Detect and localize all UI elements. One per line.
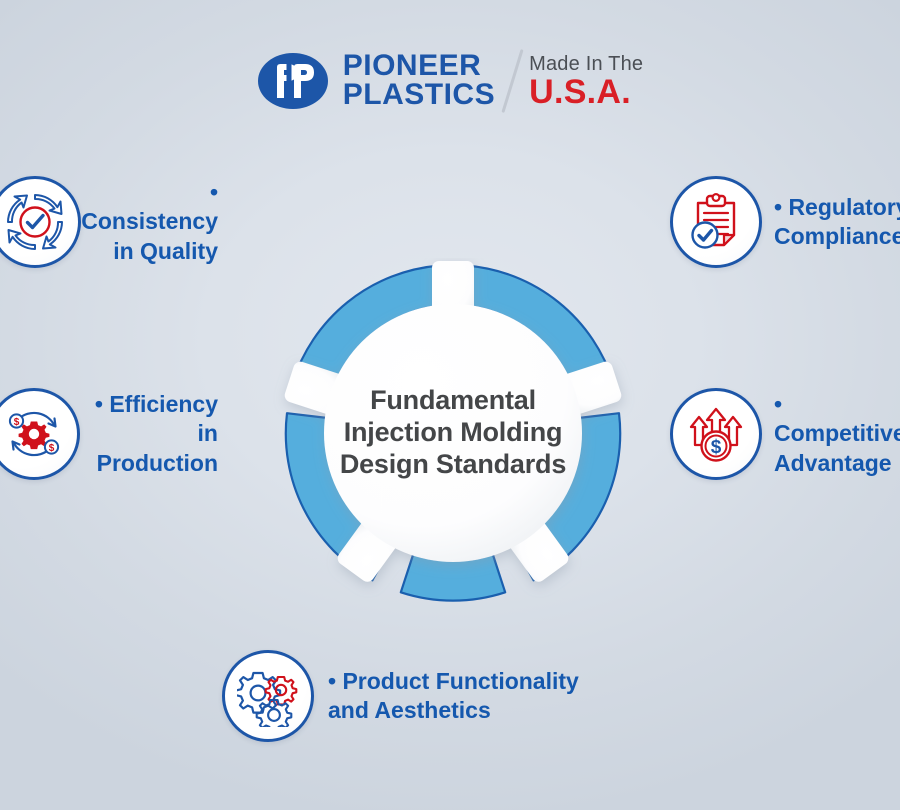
pioneer-plastics-monogram-icon <box>257 51 329 111</box>
feature-node-product[interactable]: • Product Functionality and Aesthetics <box>222 650 692 742</box>
slash-divider <box>495 46 529 116</box>
feature-node-competitive[interactable]: $ • Competitive Advantage <box>670 388 900 480</box>
made-in-label: Made In The <box>529 54 643 74</box>
feature-node-efficiency[interactable]: $ $ • Efficiency in Production <box>0 388 230 480</box>
ring-segments <box>283 261 623 601</box>
gear-dollar-cycle-icon: $ $ <box>0 388 80 480</box>
svg-text:$: $ <box>49 443 55 454</box>
growth-arrows-coin-icon: $ <box>670 388 762 480</box>
quality-cycle-check-icon <box>0 176 81 268</box>
feature-node-regulatory[interactable]: • Regulatory Compliance <box>670 176 900 268</box>
feature-node-consistency[interactable]: • Consistency in Quality <box>0 176 230 268</box>
country-label: U.S.A. <box>529 75 643 109</box>
feature-label-competitive: • Competitive Advantage <box>774 390 900 478</box>
brand-line-2: PLASTICS <box>343 81 495 110</box>
center-wheel <box>265 258 641 608</box>
feature-label-regulatory: • Regulatory Compliance <box>774 193 900 252</box>
feature-label-consistency: • Consistency in Quality <box>81 178 218 266</box>
three-gears-icon <box>222 650 314 742</box>
made-in-usa-badge: Made In The U.S.A. <box>529 54 643 109</box>
svg-text:$: $ <box>711 437 722 458</box>
clipboard-check-icon <box>670 176 762 268</box>
feature-label-efficiency: • Efficiency in Production <box>80 390 218 478</box>
feature-label-product: • Product Functionality and Aesthetics <box>328 667 579 726</box>
pioneer-plastics-logo: PIONEER PLASTICS <box>257 51 495 111</box>
brand-wordmark: PIONEER PLASTICS <box>343 52 495 110</box>
svg-text:$: $ <box>14 417 20 428</box>
brand-line-1: PIONEER <box>343 52 495 81</box>
brand-header: PIONEER PLASTICS Made In The U.S.A. <box>0 46 900 116</box>
